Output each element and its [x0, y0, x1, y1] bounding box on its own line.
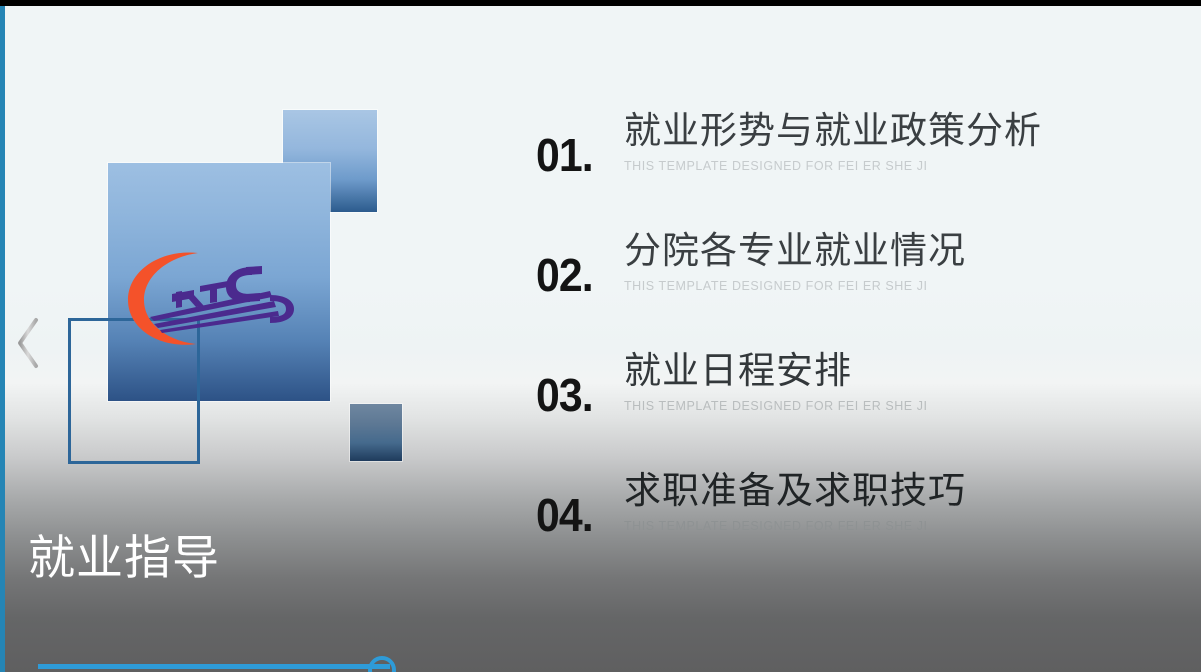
agenda-item-number: 01. — [536, 128, 593, 182]
agenda-item-heading: 求职准备及求职技巧 — [624, 464, 966, 518]
bottom-decoration — [38, 655, 418, 672]
agenda-number-dot: . — [582, 489, 593, 541]
agenda-item-body: 分院各专业就业情况 THIS TEMPLATE DESIGNED FOR FEI… — [624, 224, 966, 293]
top-black-strip — [0, 0, 1201, 6]
agenda-item-subtitle: THIS TEMPLATE DESIGNED FOR FEI ER SHE JI — [624, 159, 1042, 173]
slide-title: 就业指导 — [28, 532, 220, 585]
rtc-logo — [120, 245, 310, 350]
agenda-item[interactable]: 01. 就业形势与就业政策分析 THIS TEMPLATE DESIGNED F… — [536, 104, 1156, 224]
agenda-number-dot: . — [582, 129, 593, 181]
agenda-list: 01. 就业形势与就业政策分析 THIS TEMPLATE DESIGNED F… — [536, 104, 1156, 584]
agenda-item-subtitle: THIS TEMPLATE DESIGNED FOR FEI ER SHE JI — [624, 399, 928, 413]
agenda-item-body: 求职准备及求职技巧 THIS TEMPLATE DESIGNED FOR FEI… — [624, 464, 966, 533]
agenda-item[interactable]: 03. 就业日程安排 THIS TEMPLATE DESIGNED FOR FE… — [536, 344, 1156, 464]
agenda-item-body: 就业形势与就业政策分析 THIS TEMPLATE DESIGNED FOR F… — [624, 104, 1042, 173]
agenda-number-value: 01 — [536, 129, 582, 181]
agenda-number-value: 04 — [536, 489, 582, 541]
agenda-item-heading: 就业形势与就业政策分析 — [624, 104, 1042, 158]
left-accent-bar — [0, 6, 5, 672]
bottom-circle-marker — [368, 656, 396, 672]
agenda-item-heading: 分院各专业就业情况 — [624, 224, 966, 278]
agenda-item-subtitle: THIS TEMPLATE DESIGNED FOR FEI ER SHE JI — [624, 279, 966, 293]
previous-slide-icon[interactable] — [12, 316, 46, 370]
decorative-square-bottom — [350, 404, 402, 461]
agenda-item-body: 就业日程安排 THIS TEMPLATE DESIGNED FOR FEI ER… — [624, 344, 928, 413]
agenda-item-heading: 就业日程安排 — [624, 344, 928, 398]
agenda-item[interactable]: 02. 分院各专业就业情况 THIS TEMPLATE DESIGNED FOR… — [536, 224, 1156, 344]
agenda-number-dot: . — [582, 369, 593, 421]
agenda-number-value: 03 — [536, 369, 582, 421]
agenda-number-value: 02 — [536, 249, 582, 301]
agenda-item-number: 03. — [536, 368, 593, 422]
bottom-underline — [38, 664, 390, 669]
agenda-number-dot: . — [582, 249, 593, 301]
agenda-item-number: 04. — [536, 488, 593, 542]
agenda-item[interactable]: 04. 求职准备及求职技巧 THIS TEMPLATE DESIGNED FOR… — [536, 464, 1156, 584]
presentation-slide: 就业指导 01. 就业形势与就业政策分析 THIS TEMPLATE DESIG… — [0, 0, 1201, 672]
agenda-item-number: 02. — [536, 248, 593, 302]
agenda-item-subtitle: THIS TEMPLATE DESIGNED FOR FEI ER SHE JI — [624, 519, 966, 533]
